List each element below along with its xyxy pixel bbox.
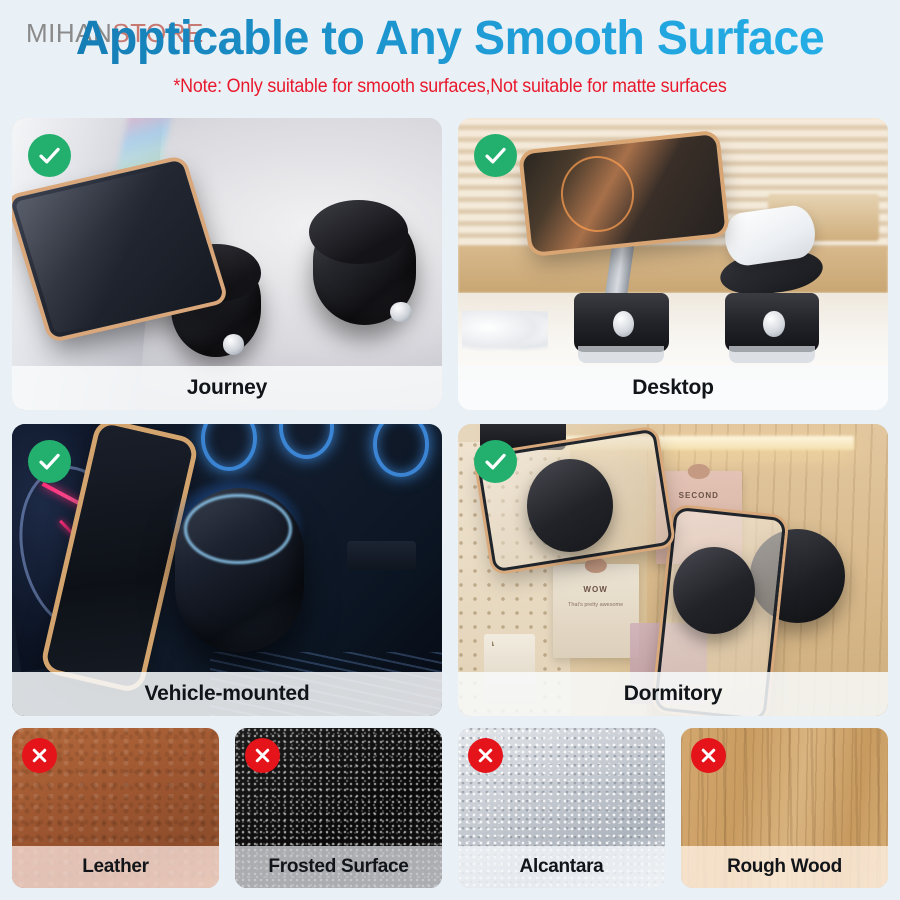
surface-card-frosted-surface[interactable]: Frosted Surface [235, 728, 442, 888]
x-circle-icon [468, 738, 503, 773]
watermark-brand-primary: MIHAN [26, 18, 112, 48]
scene-card-journey[interactable]: Journey [12, 118, 442, 410]
surface-card-alcantara[interactable]: Alcantara [458, 728, 665, 888]
surface-label: Alcantara [458, 846, 665, 888]
check-circle-icon [28, 134, 71, 177]
scene-label: Desktop [458, 366, 888, 410]
sticky-note-subtitle: That's pretty awesome [553, 602, 639, 608]
scene-card-vehicle-mounted[interactable]: Vehicle-mounted [12, 424, 442, 716]
scene-label: Dormitory [458, 672, 888, 716]
surface-card-leather[interactable]: Leather [12, 728, 219, 888]
surface-label: Rough Wood [681, 846, 888, 888]
watermark: MIHANSTORE [26, 18, 204, 49]
check-circle-icon [28, 440, 71, 483]
sticky-note-title: WOW [553, 585, 639, 594]
surface-card-rough-wood[interactable]: Rough Wood [681, 728, 888, 888]
surface-label: Leather [12, 846, 219, 888]
sticky-note-title: SECOND [656, 491, 742, 500]
check-circle-icon [474, 134, 517, 177]
header: Appticable to Any Smooth Surface *Note: … [0, 0, 900, 110]
x-circle-icon [245, 738, 280, 773]
check-circle-icon [474, 440, 517, 483]
unsuitable-surfaces-grid: Leather Frosted Surface Alcantara Rough … [12, 728, 888, 888]
scene-card-dormitory[interactable]: SECOND These are lovely WOW That's prett… [458, 424, 888, 716]
sticky-note: WOW That's pretty awesome [553, 564, 639, 657]
watermark-brand-secondary: STORE [112, 18, 204, 48]
compatibility-note: *Note: Only suitable for smooth surfaces… [27, 76, 873, 98]
suitable-scenes-grid: Journey [12, 118, 888, 716]
x-circle-icon [22, 738, 57, 773]
product-infographic: MIHANSTORE Appticable to Any Smooth Surf… [0, 0, 900, 900]
x-circle-icon [691, 738, 726, 773]
scene-card-desktop[interactable]: Desktop [458, 118, 888, 410]
scene-label: Vehicle-mounted [12, 672, 442, 716]
surface-label: Frosted Surface [235, 846, 442, 888]
scene-label: Journey [12, 366, 442, 410]
